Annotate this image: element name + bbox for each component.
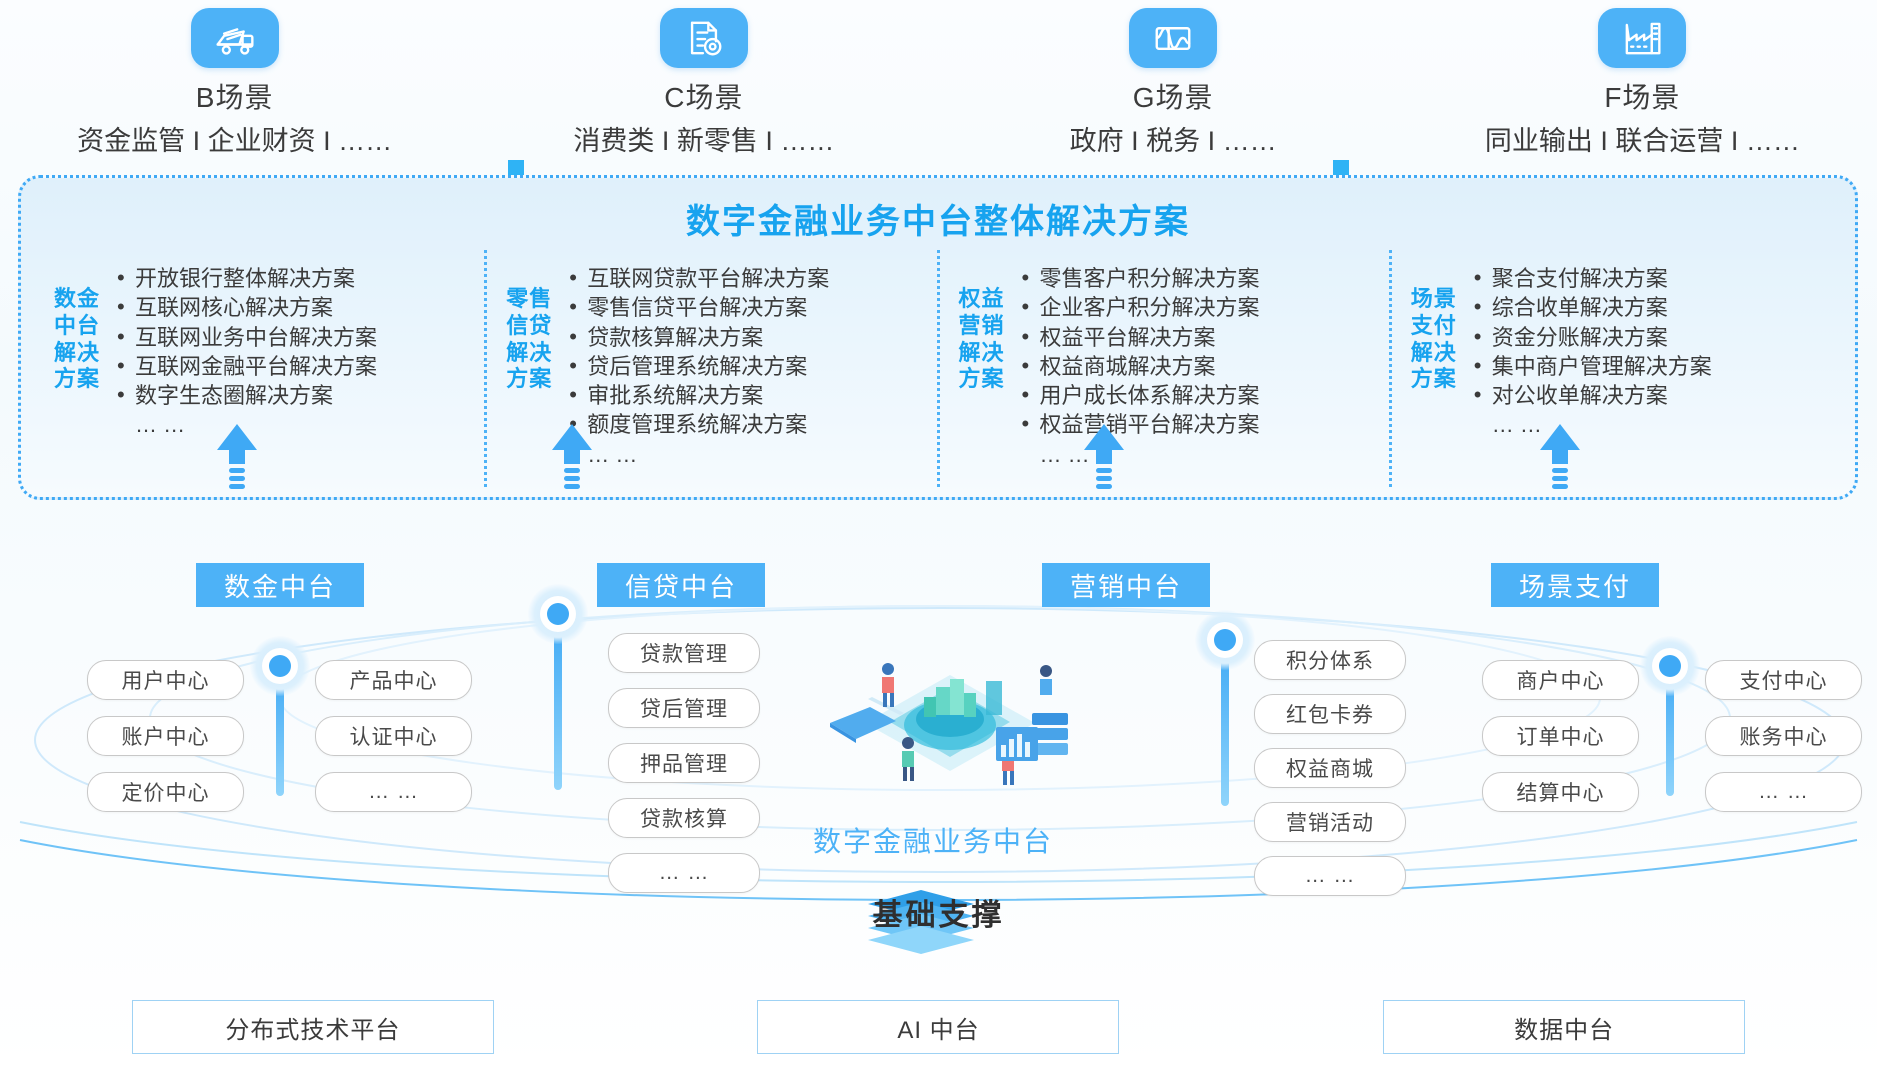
- up-arrow-scenario-payment: [1538, 424, 1582, 496]
- pin-marker-credit: [528, 584, 588, 784]
- list-item[interactable]: 积分体系: [1254, 640, 1406, 680]
- list-item: 互联网核心解决方案: [115, 293, 377, 322]
- list-item[interactable]: 结算中心: [1482, 772, 1639, 812]
- scene-card-g[interactable]: G场景 政府 I 税务 I ……: [939, 8, 1408, 158]
- list-item: 企业客户积分解决方案: [1020, 293, 1260, 322]
- up-arrow-digital-finance: [215, 424, 259, 496]
- map-scroll-icon: [1129, 8, 1217, 68]
- list-item: 集中商户管理解决方案: [1472, 352, 1712, 381]
- center-platform-label: 数字金融业务中台: [813, 820, 1053, 860]
- list-item: 权益平台解决方案: [1020, 323, 1260, 352]
- list-item: 零售客户积分解决方案: [1020, 264, 1260, 293]
- list-item: 贷后管理系统解决方案: [567, 352, 829, 381]
- list-item: 额度管理系统解决方案: [567, 410, 829, 439]
- list-item: 贷款核算解决方案: [567, 323, 829, 352]
- solution-column-rights-marketing: 权益 营销 解决 方案 零售客户积分解决方案 企业客户积分解决方案 权益平台解决…: [937, 250, 1389, 487]
- list-item: 数字生态圈解决方案: [115, 381, 377, 410]
- pin-marker-digital-finance: [250, 636, 310, 796]
- scene-card-f[interactable]: F场景 同业输出 I 联合运营 I ……: [1408, 8, 1877, 158]
- list-item[interactable]: 贷款核算: [608, 798, 760, 838]
- list-item[interactable]: 营销活动: [1254, 802, 1406, 842]
- list-ellipsis: … …: [1020, 440, 1260, 469]
- foundation-box-row: 分布式技术平台 AI 中台 数据中台: [0, 1000, 1877, 1054]
- list-item: 权益商城解决方案: [1020, 352, 1260, 381]
- scene-subtitle: 消费类 I 新零售 I ……: [573, 119, 834, 158]
- list-item[interactable]: 商户中心: [1482, 660, 1639, 700]
- list-item[interactable]: 贷款管理: [608, 633, 760, 673]
- list-item[interactable]: … …: [315, 772, 472, 812]
- list-item: 聚合支付解决方案: [1472, 264, 1712, 293]
- scene-name: F场景: [1604, 76, 1680, 116]
- list-item[interactable]: 认证中心: [315, 716, 472, 756]
- pin-marker-marketing: [1195, 610, 1255, 800]
- list-item[interactable]: 贷后管理: [608, 688, 760, 728]
- up-arrow-credit: [550, 424, 594, 496]
- list-item: 互联网金融平台解决方案: [115, 352, 377, 381]
- list-item: 资金分账解决方案: [1472, 323, 1712, 352]
- list-item: 权益营销平台解决方案: [1020, 410, 1260, 439]
- column-item-list: 开放银行整体解决方案 互联网核心解决方案 互联网业务中台解决方案 互联网金融平台…: [105, 264, 377, 440]
- platform-badge-marketing[interactable]: 营销中台: [1042, 563, 1210, 607]
- list-item[interactable]: 账户中心: [87, 716, 244, 756]
- scene-name: C场景: [664, 76, 743, 116]
- list-item: 零售信贷平台解决方案: [567, 293, 829, 322]
- list-item[interactable]: 订单中心: [1482, 716, 1639, 756]
- factory-icon: [1598, 8, 1686, 68]
- list-item[interactable]: 权益商城: [1254, 748, 1406, 788]
- foundation-box-ai-platform[interactable]: AI 中台: [757, 1000, 1119, 1054]
- list-item[interactable]: 红包卡券: [1254, 694, 1406, 734]
- scene-name: G场景: [1133, 76, 1214, 116]
- list-item[interactable]: … …: [608, 853, 760, 893]
- platform-badge-credit[interactable]: 信贷中台: [597, 563, 765, 607]
- pin-marker-scenario-payment: [1640, 636, 1700, 796]
- scene-card-c[interactable]: C场景 消费类 I 新零售 I ……: [469, 8, 938, 158]
- column-label: 数金 中台 解决 方案: [49, 286, 105, 393]
- up-arrow-marketing: [1082, 424, 1126, 496]
- scene-name: B场景: [196, 76, 274, 116]
- list-item: 审批系统解决方案: [567, 381, 829, 410]
- solution-column-scenario-payment: 场景 支付 解决 方案 聚合支付解决方案 综合收单解决方案 资金分账解决方案 集…: [1389, 250, 1841, 487]
- list-ellipsis: … …: [1472, 410, 1712, 439]
- scene-row: B场景 资金监管 I 企业财资 I …… C场景 消费类 I 新零售 I ……: [0, 8, 1877, 158]
- list-item: 互联网贷款平台解决方案: [567, 264, 829, 293]
- column-label: 权益 营销 解决 方案: [954, 286, 1010, 393]
- column-item-list: 聚合支付解决方案 综合收单解决方案 资金分账解决方案 集中商户管理解决方案 对公…: [1462, 264, 1712, 440]
- list-item: 开放银行整体解决方案: [115, 264, 377, 293]
- platform-badge-digital-finance[interactable]: 数金中台: [196, 563, 364, 607]
- column-label: 零售 信贷 解决 方案: [501, 286, 557, 393]
- solution-panel: 数字金融业务中台整体解决方案 数金 中台 解决 方案 开放银行整体解决方案 互联…: [18, 175, 1858, 500]
- platform-badge-scenario-payment[interactable]: 场景支付: [1491, 563, 1659, 607]
- scene-card-b[interactable]: B场景 资金监管 I 企业财资 I ……: [0, 8, 469, 158]
- list-ellipsis: … …: [567, 440, 829, 469]
- diagram-canvas: B场景 资金监管 I 企业财资 I …… C场景 消费类 I 新零售 I ……: [0, 0, 1877, 1070]
- list-item[interactable]: 产品中心: [315, 660, 472, 700]
- scene-subtitle: 资金监管 I 企业财资 I ……: [77, 119, 392, 158]
- list-item[interactable]: 用户中心: [87, 660, 244, 700]
- isometric-platform-illustration: [800, 635, 1100, 805]
- base-support-title: 基础支撑: [0, 890, 1877, 934]
- column-item-list: 零售客户积分解决方案 企业客户积分解决方案 权益平台解决方案 权益商城解决方案 …: [1010, 264, 1260, 469]
- truck-cargo-icon: [191, 8, 279, 68]
- foundation-box-distributed-tech[interactable]: 分布式技术平台: [132, 1000, 494, 1054]
- list-item[interactable]: … …: [1705, 772, 1862, 812]
- list-item: 对公收单解决方案: [1472, 381, 1712, 410]
- list-item[interactable]: 支付中心: [1705, 660, 1862, 700]
- list-item: 用户成长体系解决方案: [1020, 381, 1260, 410]
- list-item: 综合收单解决方案: [1472, 293, 1712, 322]
- list-item[interactable]: 定价中心: [87, 772, 244, 812]
- column-label: 场景 支付 解决 方案: [1406, 286, 1462, 393]
- column-item-list: 互联网贷款平台解决方案 零售信贷平台解决方案 贷款核算解决方案 贷后管理系统解决…: [557, 264, 829, 469]
- base-support-section: 基础支撑: [0, 890, 1877, 934]
- list-item[interactable]: 账务中心: [1705, 716, 1862, 756]
- foundation-box-data-platform[interactable]: 数据中台: [1383, 1000, 1745, 1054]
- solution-column-digital-finance: 数金 中台 解决 方案 开放银行整体解决方案 互联网核心解决方案 互联网业务中台…: [35, 250, 484, 487]
- scene-subtitle: 政府 I 税务 I ……: [1070, 119, 1277, 158]
- document-seal-icon: [660, 8, 748, 68]
- scene-subtitle: 同业输出 I 联合运营 I ……: [1485, 119, 1800, 158]
- list-item: 互联网业务中台解决方案: [115, 323, 377, 352]
- panel-title: 数字金融业务中台整体解决方案: [21, 194, 1855, 243]
- list-item[interactable]: 押品管理: [608, 743, 760, 783]
